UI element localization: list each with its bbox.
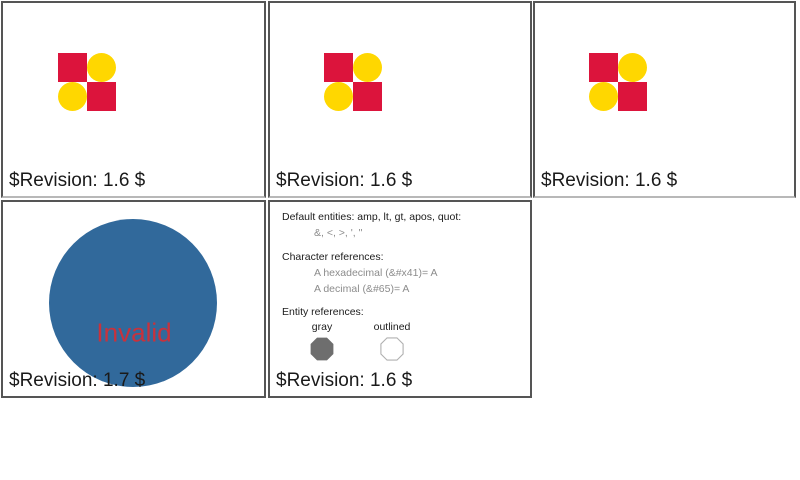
- logo-panel-1: $Revision: 1.6 $: [1, 1, 266, 198]
- octagon-outline-icon: [380, 337, 404, 361]
- logo-square-top-left: [324, 53, 353, 82]
- character-reference-dec: A decimal (&#65)= A: [282, 282, 524, 297]
- panel-canvas: Invalid: [3, 202, 264, 396]
- octagon-filled-icon: [310, 337, 334, 361]
- revision-label: $Revision: 1.6 $: [541, 170, 677, 192]
- entities-doc: Default entities: amp, lt, gt, apos, quo…: [282, 210, 524, 377]
- logo-graphic: [58, 53, 116, 111]
- revision-label: $Revision: 1.7 $: [9, 370, 145, 392]
- entity-glyph-gray: gray: [290, 321, 354, 366]
- logo-circle-bottom-left: [58, 82, 87, 111]
- revision-label: $Revision: 1.6 $: [276, 170, 412, 192]
- logo-circle-bottom-left: [589, 82, 618, 111]
- page-root: $Revision: 1.6 $ $Revision: 1.6 $ $Revis…: [0, 0, 800, 480]
- logo-square-top-left: [58, 53, 87, 82]
- logo-circle-top-right: [618, 53, 647, 82]
- panel-canvas: [270, 3, 530, 196]
- character-references-heading: Character references:: [282, 250, 524, 264]
- blue-circle-shape: [49, 219, 217, 387]
- logo-circle-bottom-left: [324, 82, 353, 111]
- logo-panel-3: $Revision: 1.6 $: [533, 1, 796, 198]
- entity-glyph-outlined: outlined: [360, 321, 424, 366]
- logo-circle-top-right: [353, 53, 382, 82]
- invalid-label: Invalid: [96, 318, 171, 349]
- entity-references-heading: Entity references:: [282, 305, 524, 319]
- entity-glyph-outlined-label: outlined: [360, 321, 424, 334]
- logo-circle-top-right: [87, 53, 116, 82]
- invalid-circle-panel: Invalid $Revision: 1.7 $: [1, 200, 266, 398]
- default-entities-value: &, <, >, ', ": [282, 226, 524, 241]
- doc-spacer: [282, 242, 524, 250]
- logo-square-bottom-right: [87, 82, 116, 111]
- character-reference-hex: A hexadecimal (&#x41)= A: [282, 266, 524, 281]
- logo-graphic: [324, 53, 382, 111]
- entity-glyph-gray-label: gray: [290, 321, 354, 334]
- entity-glyph-row: gray outlined: [282, 321, 524, 377]
- doc-spacer: [282, 298, 524, 305]
- panel-canvas: [535, 3, 794, 196]
- entities-doc-panel: Default entities: amp, lt, gt, apos, quo…: [268, 200, 532, 398]
- revision-label: $Revision: 1.6 $: [276, 370, 412, 392]
- panel-canvas: [3, 3, 264, 196]
- logo-graphic: [589, 53, 647, 111]
- revision-label: $Revision: 1.6 $: [9, 170, 145, 192]
- logo-square-bottom-right: [353, 82, 382, 111]
- default-entities-heading: Default entities: amp, lt, gt, apos, quo…: [282, 210, 524, 224]
- logo-panel-2: $Revision: 1.6 $: [268, 1, 532, 198]
- logo-square-bottom-right: [618, 82, 647, 111]
- logo-square-top-left: [589, 53, 618, 82]
